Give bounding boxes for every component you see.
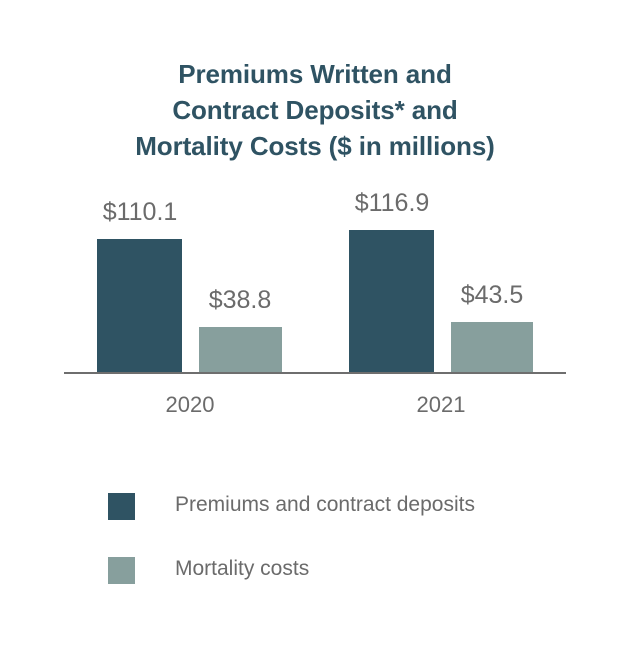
bar-mortality-2021[interactable] [451, 322, 533, 373]
bar-label-premiums-2020: $110.1 [85, 198, 195, 226]
bar-label-mortality-2020: $38.8 [185, 286, 295, 314]
legend-label-premiums: Premiums and contract deposits [175, 490, 475, 520]
bar-premiums-2020[interactable] [97, 239, 182, 373]
legend-label-mortality: Mortality costs [175, 554, 309, 584]
legend-item-mortality[interactable]: Mortality costs [108, 554, 588, 618]
bar-label-mortality-2021: $43.5 [437, 281, 547, 309]
bar-group-2020 [97, 0, 282, 373]
plot-area: $110.1 $38.8 $116.9 $43.5 2020 2021 [0, 0, 630, 440]
bar-mortality-2020[interactable] [199, 327, 282, 373]
bar-label-premiums-2021: $116.9 [337, 189, 447, 217]
x-tick-label-2021: 2021 [386, 392, 496, 418]
chart-legend: Premiums and contract deposits Mortality… [108, 490, 588, 618]
chart-figure: Premiums Written and Contract Deposits* … [0, 0, 630, 660]
bar-premiums-2021[interactable] [349, 230, 434, 373]
x-axis-line [64, 372, 566, 374]
legend-swatch-mortality-icon [108, 557, 135, 584]
legend-item-premiums[interactable]: Premiums and contract deposits [108, 490, 588, 554]
legend-swatch-premiums-icon [108, 493, 135, 520]
x-tick-label-2020: 2020 [135, 392, 245, 418]
bar-group-2021 [349, 0, 533, 373]
